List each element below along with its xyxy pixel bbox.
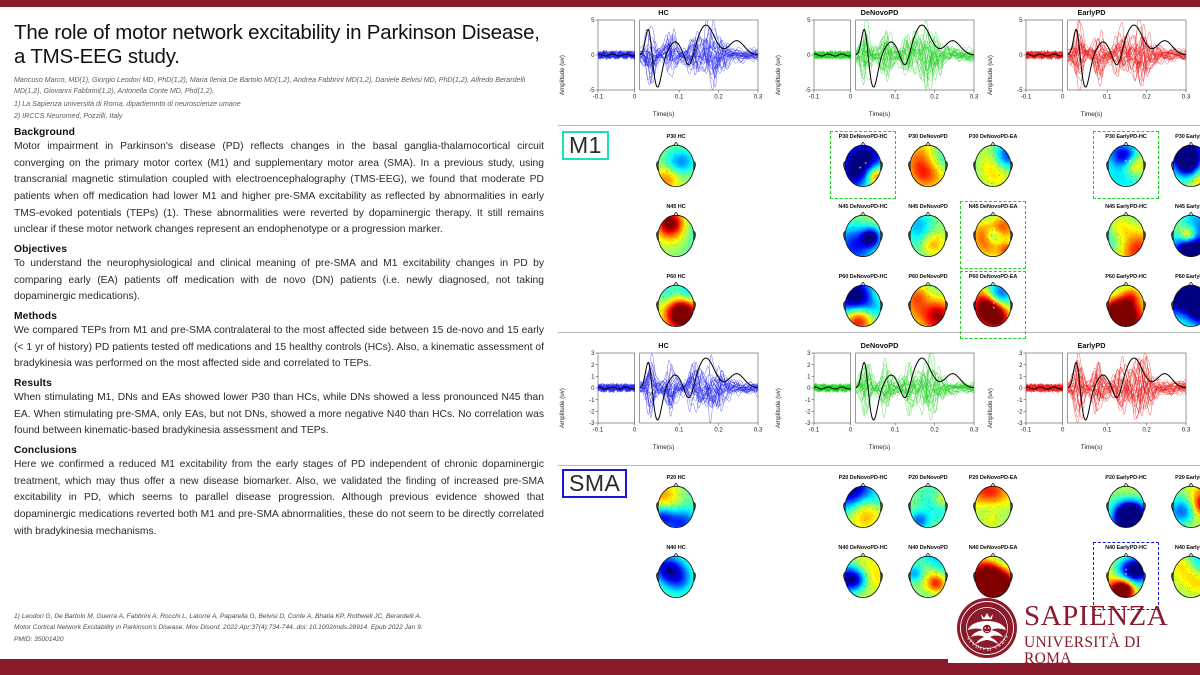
svg-text:0.2: 0.2: [1142, 94, 1151, 101]
butterfly-title: HC: [558, 8, 769, 17]
svg-text:2: 2: [807, 362, 811, 369]
topoplot-cell: N40 HC: [653, 544, 699, 599]
section-heading-background: Background: [14, 127, 548, 138]
section-body-background: Motor impairment in Parkinson's disease …: [14, 139, 544, 239]
divider-sma-top: [558, 465, 1200, 466]
topoplot-cell: N45 HC: [653, 203, 699, 258]
svg-text:0: 0: [807, 385, 811, 392]
svg-text:0.1: 0.1: [891, 94, 900, 101]
topoplot-cell: N40 DeNovoPD-HC: [840, 544, 886, 599]
topoplot-scalp-map: [840, 212, 886, 258]
topoplot-scalp-map: [1168, 483, 1200, 529]
svg-text:0.3: 0.3: [970, 94, 978, 101]
svg-text:-0.1: -0.1: [1021, 94, 1032, 101]
topoplot-cell: P30 DeNovoPD-EA: [970, 133, 1016, 188]
eeg-traces: [1026, 353, 1186, 422]
svg-text:-2: -2: [805, 408, 811, 415]
svg-text:2: 2: [1019, 362, 1023, 369]
svg-text:0.3: 0.3: [754, 94, 762, 101]
region-tag-m1: M1: [562, 131, 609, 160]
svg-text:-1: -1: [805, 397, 811, 404]
topoplot-cell: P60 EarlyPD: [1168, 273, 1200, 328]
butterfly-plot-sma-butterfly-earlypd: EarlyPDAmplitude (uv)Time(s)-3-2-10123-0…: [986, 340, 1197, 452]
svg-text:1: 1: [1019, 373, 1023, 380]
section-heading-results: Results: [14, 378, 548, 389]
topoplot-scalp-map: [840, 282, 886, 328]
page-title: The role of motor network excitability i…: [14, 21, 548, 69]
topoplot-label: P30 HC: [632, 133, 720, 142]
y-axis-label: Amplitude (uv): [987, 388, 994, 428]
figures-column: HCAmplitude (uv)Time(s)-505-0.100.10.20.…: [556, 7, 1200, 663]
butterfly-axes: -505-0.100.10.20.3: [580, 17, 762, 103]
topoplot-cell: P60 HC: [653, 273, 699, 328]
section-body-methods: We compared TEPs from M1 and pre-SMA con…: [14, 323, 544, 373]
svg-text:0: 0: [633, 94, 637, 101]
m1-butterfly-row: HCAmplitude (uv)Time(s)-505-0.100.10.20.…: [556, 7, 1200, 119]
svg-text:3: 3: [807, 350, 811, 357]
svg-text:1: 1: [807, 373, 811, 380]
topoplot-scalp-map: [653, 212, 699, 258]
svg-text:5: 5: [591, 17, 595, 24]
region-tag-sma: SMA: [562, 469, 627, 498]
topoplot-scalp-map: [905, 483, 951, 529]
poster-canvas: The role of motor network excitability i…: [0, 0, 1200, 675]
topoplot-cell: N45 DeNovoPD: [905, 203, 951, 258]
svg-text:0: 0: [591, 385, 595, 392]
svg-text:-2: -2: [1017, 408, 1023, 415]
top-accent-band: [0, 0, 1200, 7]
svg-text:0.2: 0.2: [930, 427, 939, 434]
svg-text:3: 3: [1019, 350, 1023, 357]
y-axis-label: Amplitude (uv): [987, 55, 994, 95]
topoplot-scalp-map: [970, 483, 1016, 529]
eeg-traces: [598, 354, 758, 423]
topoplot-scalp-map: [653, 483, 699, 529]
svg-text:0.1: 0.1: [675, 94, 684, 101]
svg-text:0: 0: [1061, 94, 1065, 101]
topoplot-scalp-map: [840, 483, 886, 529]
divider-m1-top: [558, 125, 1200, 126]
section-body-results: When stimulating M1, DNs and EAs showed …: [14, 390, 544, 440]
butterfly-axes: -3-2-10123-0.100.10.20.3: [1008, 350, 1190, 436]
topoplot-scalp-map: [905, 212, 951, 258]
topoplot-cell: N45 EarlyPD-HC: [1103, 203, 1149, 258]
svg-text:0.1: 0.1: [891, 427, 900, 434]
svg-text:0.1: 0.1: [1103, 94, 1112, 101]
butterfly-title: EarlyPD: [986, 8, 1197, 17]
svg-text:1: 1: [591, 373, 595, 380]
topoplot-scalp-map: [653, 142, 699, 188]
topoplot-cell: P30 DeNovoPD: [905, 133, 951, 188]
affiliations: 1) La Sapienza università di Roma, dipar…: [14, 99, 548, 122]
svg-text:0.1: 0.1: [1103, 427, 1112, 434]
butterfly-axes: -3-2-10123-0.100.10.20.3: [580, 350, 762, 436]
svg-text:5: 5: [1019, 17, 1023, 24]
topoplot-label: N40 DeNovoPD-EA: [949, 544, 1037, 553]
svg-text:0.2: 0.2: [714, 94, 723, 101]
affiliation-2: 2) IRCCS Neuromed, Pozzilli, Italy: [14, 111, 548, 122]
topoplot-label: P30 DeNovoPD-EA: [949, 133, 1037, 142]
reference-line-3: PMID: 35001420: [14, 634, 550, 645]
topoplot-label: N45 EarlyPD: [1147, 203, 1200, 212]
topoplot-cell: P60 DeNovoPD: [905, 273, 951, 328]
svg-text:0.2: 0.2: [1142, 427, 1151, 434]
eeg-traces: [1026, 20, 1186, 89]
svg-text:0.1: 0.1: [675, 427, 684, 434]
section-body-objectives: To understand the neurophysiological and…: [14, 256, 544, 306]
svg-text:-0.1: -0.1: [809, 94, 820, 101]
highlight-box-p30-earlypd-hc: [1093, 131, 1159, 199]
topoplot-cell: N40 EarlyPD: [1168, 544, 1200, 599]
topoplot-scalp-map: [905, 282, 951, 328]
topoplot-label: P60 EarlyPD: [1147, 273, 1200, 282]
section-heading-conclusions: Conclusions: [14, 445, 548, 456]
eeg-traces: [814, 20, 974, 89]
svg-text:-1: -1: [589, 397, 595, 404]
topoplot-cell: N45 DeNovoPD-HC: [840, 203, 886, 258]
butterfly-title: EarlyPD: [986, 341, 1197, 350]
topoplot-scalp-map: [653, 282, 699, 328]
sapienza-wordmark: SAPIENZA UNIVERSITÀ DI ROMA: [1024, 602, 1192, 666]
svg-text:0.2: 0.2: [714, 427, 723, 434]
eeg-traces: [598, 20, 758, 89]
topoplot-cell: N40 DeNovoPD-EA: [970, 544, 1016, 599]
y-axis-label: Amplitude (uv): [559, 55, 566, 95]
svg-text:0.3: 0.3: [1182, 427, 1190, 434]
svg-text:-0.1: -0.1: [593, 94, 604, 101]
sapienza-crest-icon: STVDIVM VRBIS: [956, 597, 1018, 659]
topoplot-cell: P30 EarlyPD: [1168, 133, 1200, 188]
svg-text:0: 0: [807, 52, 811, 59]
reference-list: 1) Leodori G, De Bartolo M, Guerra A, Fa…: [14, 611, 550, 645]
butterfly-title: DeNovoPD: [774, 8, 985, 17]
topoplot-scalp-map: [970, 553, 1016, 599]
topoplot-scalp-map: [970, 142, 1016, 188]
butterfly-title: HC: [558, 341, 769, 350]
topoplot-scalp-map: [1103, 282, 1149, 328]
butterfly-plot-sma-butterfly-hc: HCAmplitude (uv)Time(s)-3-2-10123-0.100.…: [558, 340, 769, 452]
butterfly-plot-sma-butterfly-denovopd: DeNovoPDAmplitude (uv)Time(s)-3-2-10123-…: [774, 340, 985, 452]
topoplot-cell: P20 HC: [653, 474, 699, 529]
highlight-box-p30-denovopd-hc: [830, 131, 896, 199]
svg-text:0: 0: [1019, 52, 1023, 59]
butterfly-axes: -505-0.100.10.20.3: [1008, 17, 1190, 103]
topoplot-cell: P30 HC: [653, 133, 699, 188]
topoplot-scalp-map: [1103, 483, 1149, 529]
topoplot-scalp-map: [905, 142, 951, 188]
topoplot-cell: P20 EarlyPD-HC: [1103, 474, 1149, 529]
eeg-traces: [814, 353, 974, 420]
divider-m1-bottom: [558, 332, 1200, 333]
topoplot-label: P20 EarlyPD: [1147, 474, 1200, 483]
topoplot-label: P60 HC: [632, 273, 720, 282]
svg-text:0: 0: [849, 427, 853, 434]
svg-text:0: 0: [1019, 385, 1023, 392]
topoplot-scalp-map: [653, 553, 699, 599]
section-heading-methods: Methods: [14, 311, 548, 322]
logo-line-2: UNIVERSITÀ DI ROMA: [1024, 635, 1192, 666]
svg-text:5: 5: [807, 17, 811, 24]
topoplot-label: P20 DeNovoPD-EA: [949, 474, 1037, 483]
butterfly-plot-m1-butterfly-denovopd: DeNovoPDAmplitude (uv)Time(s)-505-0.100.…: [774, 7, 985, 119]
svg-text:0: 0: [849, 94, 853, 101]
svg-text:0.3: 0.3: [970, 427, 978, 434]
svg-text:0.3: 0.3: [1182, 94, 1190, 101]
topoplot-scalp-map: [1168, 142, 1200, 188]
x-axis-label: Time(s): [558, 444, 769, 451]
topoplot-scalp-map: [1103, 212, 1149, 258]
text-column: The role of motor network excitability i…: [0, 7, 556, 667]
section-heading-objectives: Objectives: [14, 244, 548, 255]
author-list: Mancuso Marco, MD(1), Giorgio Leodori MD…: [14, 75, 548, 97]
x-axis-label: Time(s): [986, 444, 1197, 451]
reference-line-2: Motor Cortical Network Excitability in P…: [14, 622, 550, 633]
topoplot-label: N45 HC: [632, 203, 720, 212]
butterfly-plot-m1-butterfly-earlypd: EarlyPDAmplitude (uv)Time(s)-505-0.100.1…: [986, 7, 1197, 119]
topoplot-scalp-map: [905, 553, 951, 599]
sma-butterfly-row: HCAmplitude (uv)Time(s)-3-2-10123-0.100.…: [556, 340, 1200, 452]
butterfly-axes: -3-2-10123-0.100.10.20.3: [796, 350, 978, 436]
svg-text:-0.1: -0.1: [593, 427, 604, 434]
topoplot-scalp-map: [1168, 282, 1200, 328]
svg-text:0: 0: [633, 427, 637, 434]
svg-text:0: 0: [1061, 427, 1065, 434]
highlight-box-n45-denovopd-ea: [960, 201, 1026, 269]
y-axis-label: Amplitude (uv): [775, 55, 782, 95]
sapienza-logo: STVDIVM VRBIS SAPIENZA UNIVERSITÀ DI ROM…: [952, 597, 1192, 659]
reference-line-1: 1) Leodori G, De Bartolo M, Guerra A, Fa…: [14, 611, 550, 622]
topoplot-cell: P20 DeNovoPD-HC: [840, 474, 886, 529]
highlight-box-p60-denovopd-ea: [960, 271, 1026, 339]
section-body-conclusions: Here we confirmed a reduced M1 excitabil…: [14, 457, 544, 540]
topoplot-scalp-map: [1168, 553, 1200, 599]
butterfly-title: DeNovoPD: [774, 341, 985, 350]
topoplot-cell: N45 EarlyPD: [1168, 203, 1200, 258]
y-axis-label: Amplitude (uv): [559, 388, 566, 428]
x-axis-label: Time(s): [774, 111, 985, 118]
affiliation-1: 1) La Sapienza università di Roma, dipar…: [14, 99, 548, 110]
svg-text:-1: -1: [1017, 397, 1023, 404]
topoplot-label: N40 HC: [632, 544, 720, 553]
topoplot-scalp-map: [840, 553, 886, 599]
svg-text:2: 2: [591, 362, 595, 369]
topoplot-cell: P60 DeNovoPD-HC: [840, 273, 886, 328]
svg-text:-0.1: -0.1: [1021, 427, 1032, 434]
x-axis-label: Time(s): [986, 111, 1197, 118]
svg-text:-0.1: -0.1: [809, 427, 820, 434]
topoplot-cell: P60 EarlyPD-HC: [1103, 273, 1149, 328]
svg-text:-2: -2: [589, 408, 595, 415]
topoplot-scalp-map: [1168, 212, 1200, 258]
topoplot-cell: P20 EarlyPD: [1168, 474, 1200, 529]
svg-text:0.2: 0.2: [930, 94, 939, 101]
butterfly-plot-m1-butterfly-hc: HCAmplitude (uv)Time(s)-505-0.100.10.20.…: [558, 7, 769, 119]
topoplot-cell: P20 DeNovoPD: [905, 474, 951, 529]
topoplot-cell: N40 DeNovoPD: [905, 544, 951, 599]
logo-line-1: SAPIENZA: [1024, 602, 1192, 631]
svg-text:0.3: 0.3: [754, 427, 762, 434]
svg-text:3: 3: [591, 350, 595, 357]
butterfly-axes: -505-0.100.10.20.3: [796, 17, 978, 103]
x-axis-label: Time(s): [558, 111, 769, 118]
topoplot-cell: P20 DeNovoPD-EA: [970, 474, 1016, 529]
svg-text:0: 0: [591, 52, 595, 59]
topoplot-label: P20 HC: [632, 474, 720, 483]
x-axis-label: Time(s): [774, 444, 985, 451]
y-axis-label: Amplitude (uv): [775, 388, 782, 428]
